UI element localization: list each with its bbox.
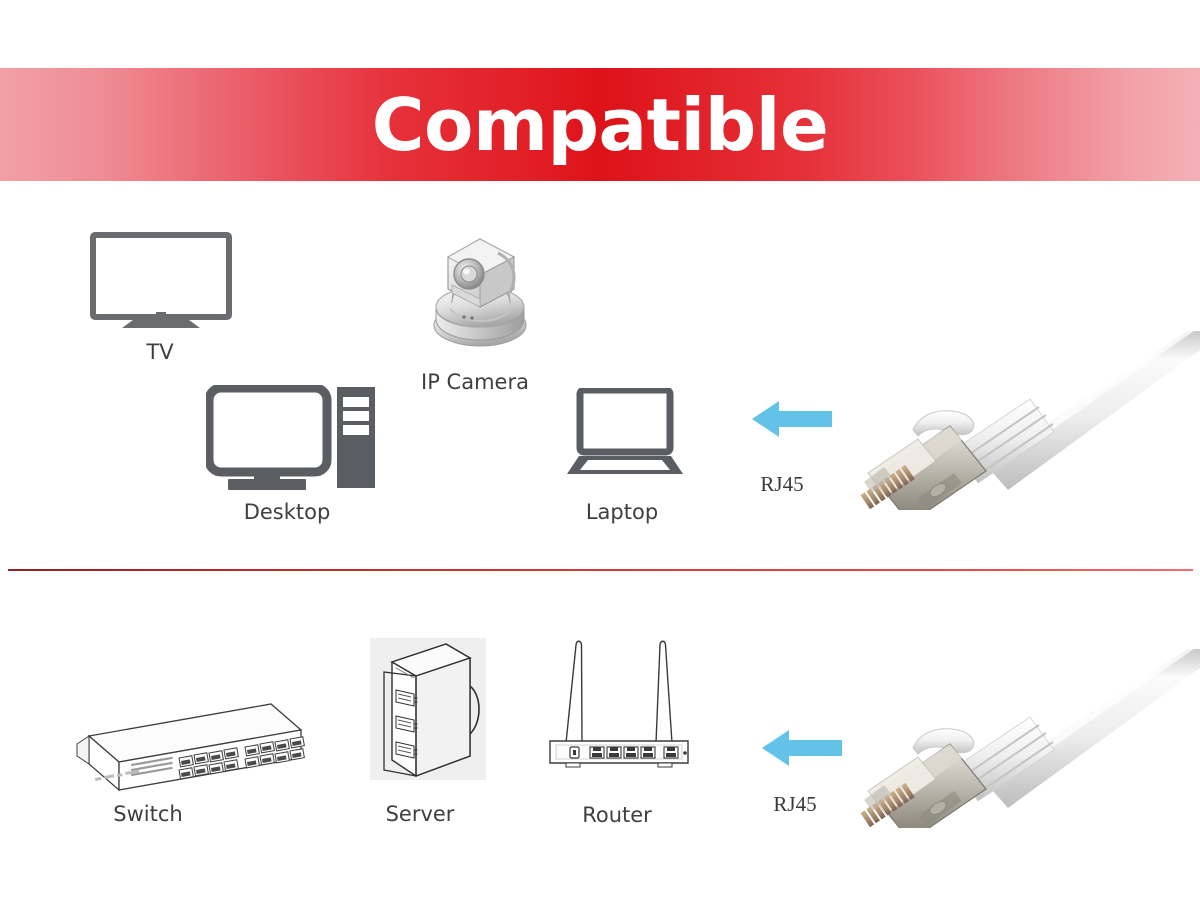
switch-icon	[55, 698, 305, 806]
left-arrow-icon	[762, 727, 842, 769]
server-icon	[370, 638, 486, 780]
tv-icon	[90, 232, 232, 328]
desktop-icon	[206, 385, 378, 490]
compatibility-infographic: Compatible TV	[0, 0, 1200, 900]
laptop-icon	[566, 388, 684, 476]
rj45-label-top: RJ45	[722, 472, 842, 497]
laptop-label: Laptop	[532, 500, 712, 524]
server-label: Server	[330, 802, 510, 826]
banner: Compatible	[0, 68, 1200, 181]
banner-title: Compatible	[372, 89, 829, 161]
section-divider	[8, 569, 1193, 571]
left-arrow-icon	[752, 398, 832, 440]
ip-camera-label: IP Camera	[385, 370, 565, 394]
switch-label: Switch	[58, 802, 238, 826]
ip-camera-icon	[424, 227, 536, 349]
rj45-cable-icon	[858, 330, 1200, 510]
router-label: Router	[527, 803, 707, 827]
rj45-label-bottom: RJ45	[735, 792, 855, 817]
tv-label: TV	[70, 340, 250, 364]
router-icon	[540, 625, 698, 780]
rj45-cable-icon	[858, 648, 1200, 828]
desktop-label: Desktop	[197, 500, 377, 524]
